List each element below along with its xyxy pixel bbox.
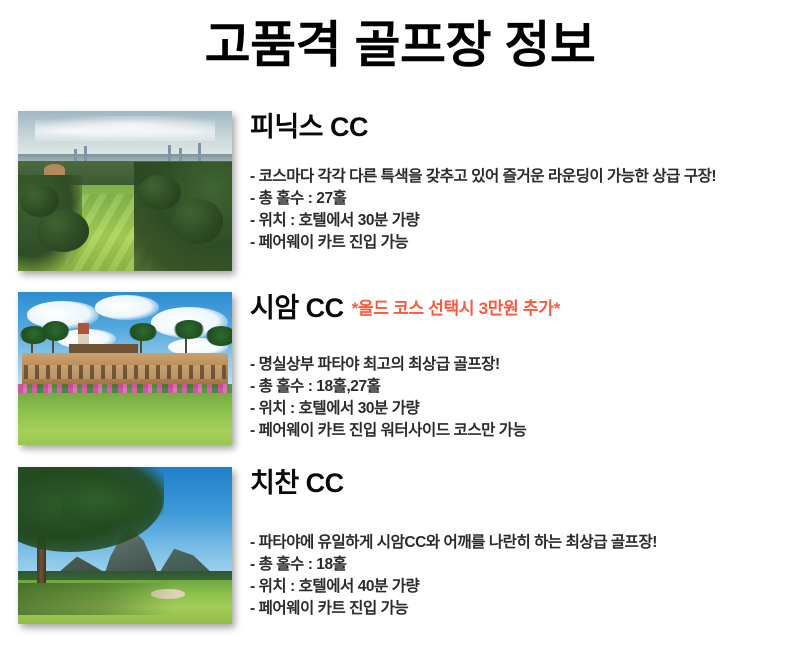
list-item: - 페어웨이 카트 진입 가능 (250, 232, 788, 254)
tree-shadow-layer (18, 583, 172, 614)
tree-icon (20, 185, 59, 217)
list-item: - 명실상부 파타야 최고의 최상급 골프장! (250, 354, 788, 376)
list-item: - 총 홀수 : 27홀 (250, 188, 788, 210)
course-detail-list: - 명실상부 파타야 최고의 최상급 골프장! - 총 홀수 : 18홀,27홀… (250, 354, 800, 442)
tree-icon (37, 210, 88, 252)
clubhouse-windows-layer (24, 365, 225, 379)
pavilion-roof-icon (44, 164, 65, 175)
course-name-heading: 피닉스 CC (250, 113, 800, 143)
course-section-phoenix: 피닉스 CC - 코스마다 각각 다른 특색을 갖추고 있어 즐거운 라운딩이 … (0, 111, 800, 271)
course-photo-siam (18, 292, 232, 445)
course-section-chichan: 치찬 CC - 파타야에 유일하게 시암CC와 어깨를 나란히 하는 최상급 골… (0, 467, 800, 624)
palm-tree-icon (42, 321, 70, 341)
course-photo-chichan (18, 467, 232, 624)
course-detail-list: - 코스마다 각각 다른 특색을 갖추고 있어 즐거운 라운딩이 가능한 상급 … (250, 166, 800, 254)
list-item: - 페어웨이 카트 진입 가능 (250, 598, 800, 620)
course-surcharge-note: *올드 코스 선택시 3만원 추가* (352, 299, 560, 318)
list-item: - 총 홀수 : 18홀 (250, 554, 800, 576)
list-item: - 총 홀수 : 18홀,27홀 (250, 376, 788, 398)
list-item: - 위치 : 호텔에서 30분 가량 (250, 398, 788, 420)
putting-green-layer (18, 393, 232, 445)
palm-tree-icon (206, 326, 232, 346)
tree-canopy-layer (61, 470, 164, 523)
list-item: - 위치 : 호텔에서 40분 가량 (250, 576, 800, 598)
list-item: - 코스마다 각각 다른 특색을 갖추고 있어 즐거운 라운딩이 가능한 상급 … (250, 166, 788, 188)
list-item: - 페어웨이 카트 진입 워터사이드 코스만 가능 (250, 420, 788, 442)
golf-clubhouse-palms-photo (18, 292, 232, 445)
page-title: 고품격 골프장 정보 (0, 0, 800, 70)
golf-course-aerial-fairway-photo (18, 111, 232, 271)
tree-icon (172, 199, 223, 244)
course-name-heading: 치찬 CC (250, 469, 800, 499)
list-item: - 위치 : 호텔에서 30분 가량 (250, 210, 788, 232)
cloud-layer (95, 295, 159, 319)
list-item: - 파타야에 유일하게 시암CC와 어깨를 나란히 하는 최상급 골프장! (250, 532, 800, 554)
golf-course-tree-mountain-photo (18, 467, 232, 624)
cloud-layer (35, 116, 215, 142)
tree-icon (138, 175, 181, 210)
course-name-text: 피닉스 CC (250, 112, 368, 142)
course-detail-list: - 파타야에 유일하게 시암CC와 어깨를 나란히 하는 최상급 골프장! - … (250, 532, 800, 620)
course-photo-phoenix (18, 111, 232, 271)
palm-tree-icon (129, 323, 157, 341)
course-text-phoenix: 피닉스 CC - 코스마다 각각 다른 특색을 갖추고 있어 즐거운 라운딩이 … (250, 111, 800, 254)
skyline-building-icon (168, 145, 171, 163)
course-name-text: 시암 CC (250, 293, 344, 323)
course-text-siam: 시암 CC*올드 코스 선택시 3만원 추가* - 명실상부 파타야 최고의 최… (250, 292, 800, 442)
course-name-heading: 시암 CC*올드 코스 선택시 3만원 추가* (250, 294, 800, 324)
skyline-building-icon (198, 143, 201, 162)
course-name-text: 치찬 CC (250, 468, 344, 498)
course-section-siam: 시암 CC*올드 코스 선택시 3만원 추가* - 명실상부 파타야 최고의 최… (0, 292, 800, 445)
course-text-chichan: 치찬 CC - 파타야에 유일하게 시암CC와 어깨를 나란히 하는 최상급 골… (250, 467, 800, 620)
